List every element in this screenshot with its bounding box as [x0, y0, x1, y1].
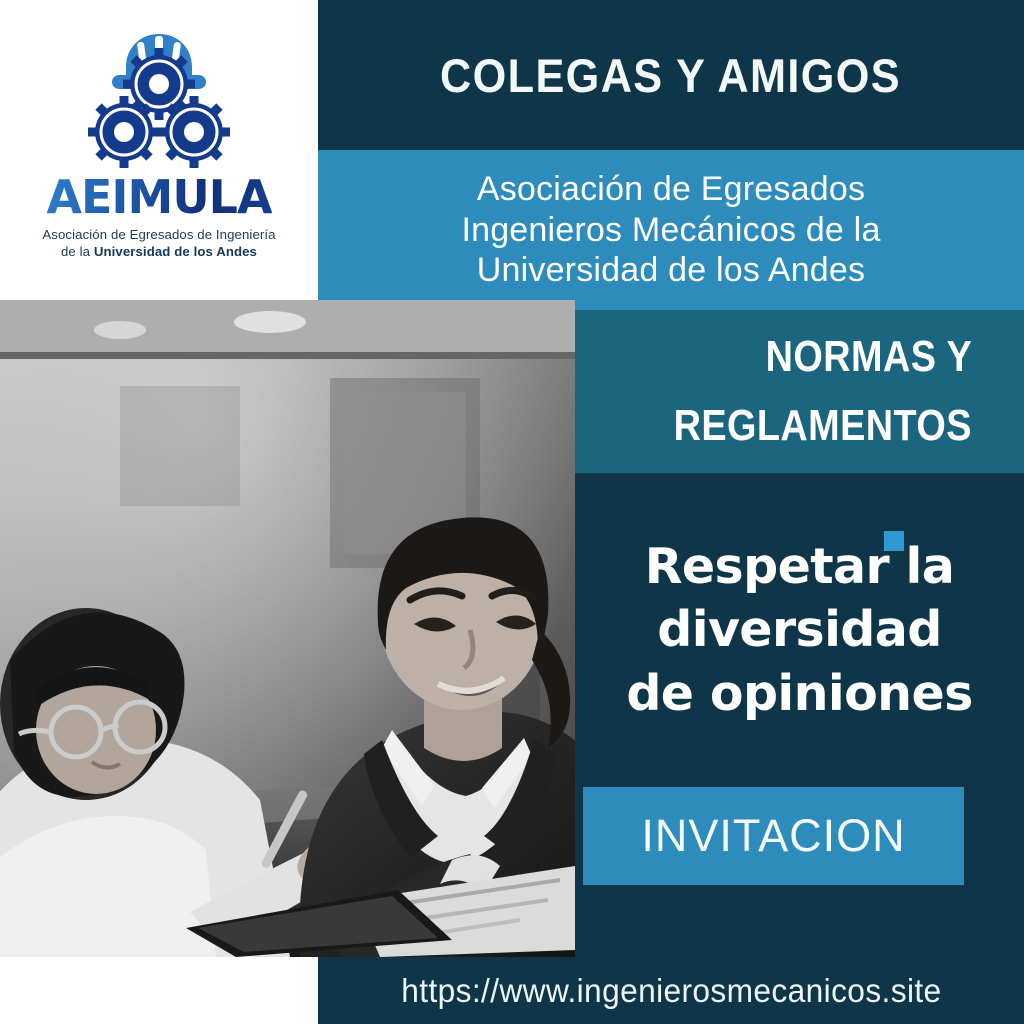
brand-tagline-line2: de la Universidad de los Andes — [61, 244, 257, 259]
brand-tagline-prefix: de la — [61, 244, 94, 259]
section-title-panel: NORMAS Y REGLAMENTOS — [575, 310, 1024, 473]
subtitle-line-2: Ingenieros Mecánicos de la — [461, 210, 880, 250]
message-line-3: de opiniones — [626, 662, 972, 725]
section-title-line-1: NORMAS Y — [765, 323, 972, 391]
page-title: COLEGAS Y AMIGOS — [441, 48, 902, 103]
section-title-line-2: REGLAMENTOS — [674, 392, 972, 460]
meeting-photo — [0, 300, 575, 957]
invitacion-button[interactable]: INVITACION — [583, 787, 964, 885]
poster-canvas: AEIMULA Asociación de Egresados de Ingen… — [0, 0, 1024, 1024]
invitacion-button-label: INVITACION — [641, 810, 905, 862]
subtitle-line-1: Asociación de Egresados — [477, 169, 865, 209]
brand-tagline-university: Universidad de los Andes — [94, 244, 257, 259]
subtitle-line-3: Universidad de los Andes — [477, 250, 865, 290]
footer-bar: https://www.ingenierosmecanicos.site — [318, 957, 1024, 1024]
headline-bar: COLEGAS Y AMIGOS — [318, 0, 1024, 150]
blue-square-accent-icon — [884, 531, 904, 551]
brand-logo-card: AEIMULA Asociación de Egresados de Ingen… — [0, 0, 318, 300]
message-line-1: Respetar la — [645, 535, 954, 598]
footer-white-block — [0, 957, 318, 1024]
website-url-link[interactable]: https://www.ingenierosmecanicos.site — [401, 972, 941, 1010]
brand-tagline-line1: Asociación de Egresados de Ingeniería — [42, 227, 275, 242]
subtitle-band: Asociación de Egresados Ingenieros Mecán… — [318, 150, 1024, 310]
brand-wordmark: AEIMULA — [46, 174, 271, 220]
message-block: Respetar la diversidad de opiniones — [575, 473, 1024, 787]
message-line-1-text: Respetar la — [645, 538, 954, 595]
hardhat-gears-icon — [79, 22, 239, 172]
message-line-2: diversidad — [657, 598, 941, 661]
